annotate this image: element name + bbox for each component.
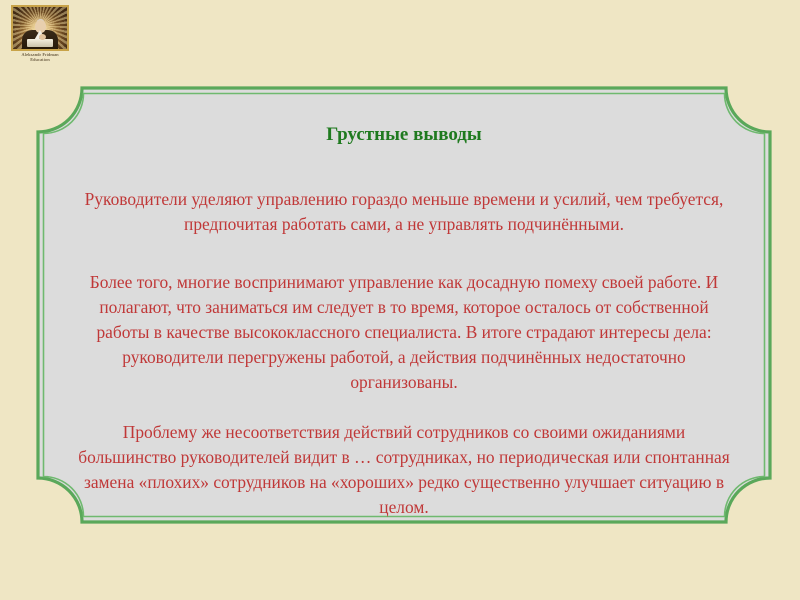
book-icon	[27, 39, 53, 47]
body-paragraph-2: Более того, многие воспринимают управлен…	[74, 270, 734, 395]
body-paragraph-1: Руководители уделяют управлению гораздо …	[74, 187, 734, 237]
body-paragraph-3: Проблему же несоответствия действий сотр…	[74, 420, 734, 520]
page-title: Грустные выводы	[74, 124, 734, 147]
content-panel: Грустные выводы Руководители уделяют упр…	[30, 80, 778, 530]
logo-caption: Aleksandr Fridman Education	[3, 52, 77, 63]
portrait-hand-shape	[39, 34, 46, 40]
logo: Aleksandr Fridman Education	[3, 3, 77, 71]
panel-text-content: Грустные выводы Руководители уделяют упр…	[48, 98, 760, 512]
slide-canvas: Aleksandr Fridman Education Грустные выв…	[0, 0, 800, 600]
logo-caption-line-2: Education	[3, 57, 77, 62]
portrait-image-icon	[11, 5, 69, 51]
